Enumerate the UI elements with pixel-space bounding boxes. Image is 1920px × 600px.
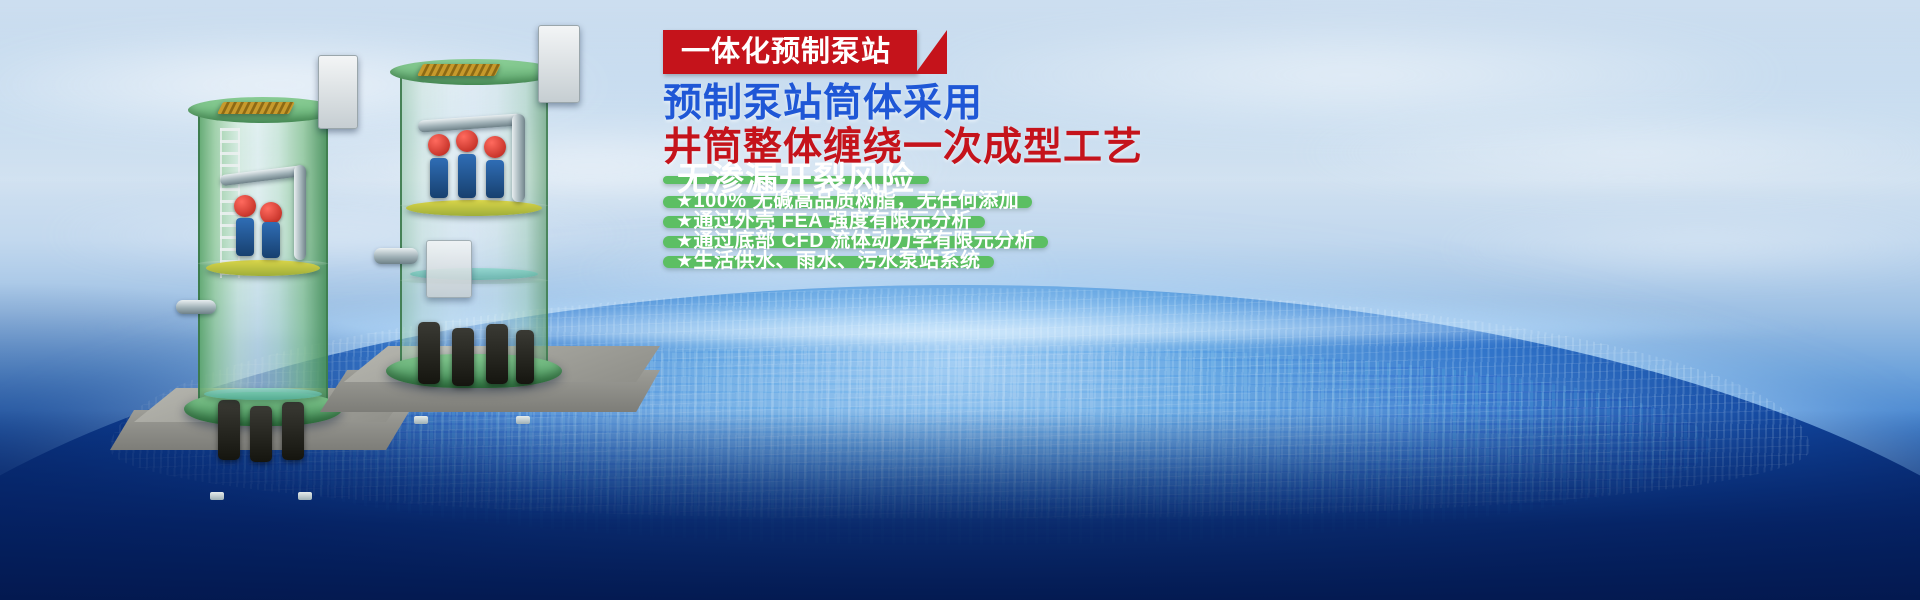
feature-item-2: ★通过外壳 FEA 强度有限元分析	[663, 216, 985, 228]
star-icon: ★	[676, 231, 694, 252]
left-pump-3	[282, 402, 304, 460]
right-valve-1	[428, 134, 450, 156]
right-upper-deck	[406, 200, 542, 216]
right-solar-panel	[417, 64, 501, 76]
feature-item-3: ★通过底部 CFD 流体动力学有限元分析	[663, 236, 1048, 248]
feature-text-4: 生活供水、雨水、污水泵站系统	[694, 250, 981, 272]
left-valve-2	[260, 202, 282, 224]
category-tag: 一体化预制泵站	[663, 30, 917, 74]
star-icon: ★	[676, 211, 694, 232]
left-foot-2	[298, 492, 312, 500]
left-pipe-riser	[294, 165, 306, 260]
left-inlet-pipe	[176, 300, 216, 314]
right-motor-2	[458, 154, 476, 198]
star-icon: ★	[676, 191, 694, 212]
left-motor-2	[262, 222, 280, 258]
left-upper-deck	[206, 260, 320, 276]
right-inlet-pipe	[374, 248, 418, 264]
left-control-cabinet	[318, 55, 358, 129]
right-control-cabinet	[538, 25, 580, 103]
left-lower-deck	[204, 388, 322, 400]
right-pump-1	[418, 322, 440, 384]
feature-list: ★100% 无碱高品质树脂，无任何添加 ★通过外壳 FEA 强度有限元分析 ★通…	[663, 196, 1223, 276]
right-internal-screen	[426, 240, 472, 298]
left-pump-2	[250, 406, 272, 462]
left-pump-1	[218, 400, 240, 460]
right-vessel	[400, 72, 548, 372]
feature-item-4: ★生活供水、雨水、污水泵站系统	[663, 256, 994, 268]
left-motor-1	[236, 218, 254, 256]
right-valve-3	[484, 136, 506, 158]
right-pump-2	[452, 328, 474, 386]
right-pump-3	[486, 324, 508, 384]
product-illustration	[90, 20, 730, 490]
left-vessel	[198, 110, 328, 410]
left-foot-1	[210, 492, 224, 500]
right-base	[386, 354, 562, 388]
right-motor-3	[486, 160, 504, 198]
right-foot-2	[516, 416, 530, 424]
feature-item-1: ★100% 无碱高品质树脂，无任何添加	[663, 196, 1032, 208]
text-panel: 一体化预制泵站 预制泵站筒体采用 井筒整体缠绕一次成型工艺 无渗漏开裂风险 ★1…	[663, 30, 1223, 276]
right-pipe-riser	[512, 114, 525, 202]
star-icon: ★	[676, 251, 694, 272]
headline-blue: 预制泵站筒体采用	[663, 82, 1223, 126]
promo-banner: 一体化预制泵站 预制泵站筒体采用 井筒整体缠绕一次成型工艺 无渗漏开裂风险 ★1…	[0, 0, 1920, 600]
highlight-badge: 无渗漏开裂风险	[663, 176, 929, 184]
right-foot-1	[414, 416, 428, 424]
left-valve-1	[234, 195, 256, 217]
left-solar-panel	[217, 102, 295, 114]
right-motor-1	[430, 158, 448, 198]
right-pump-4	[516, 330, 534, 384]
right-valve-2	[456, 130, 478, 152]
